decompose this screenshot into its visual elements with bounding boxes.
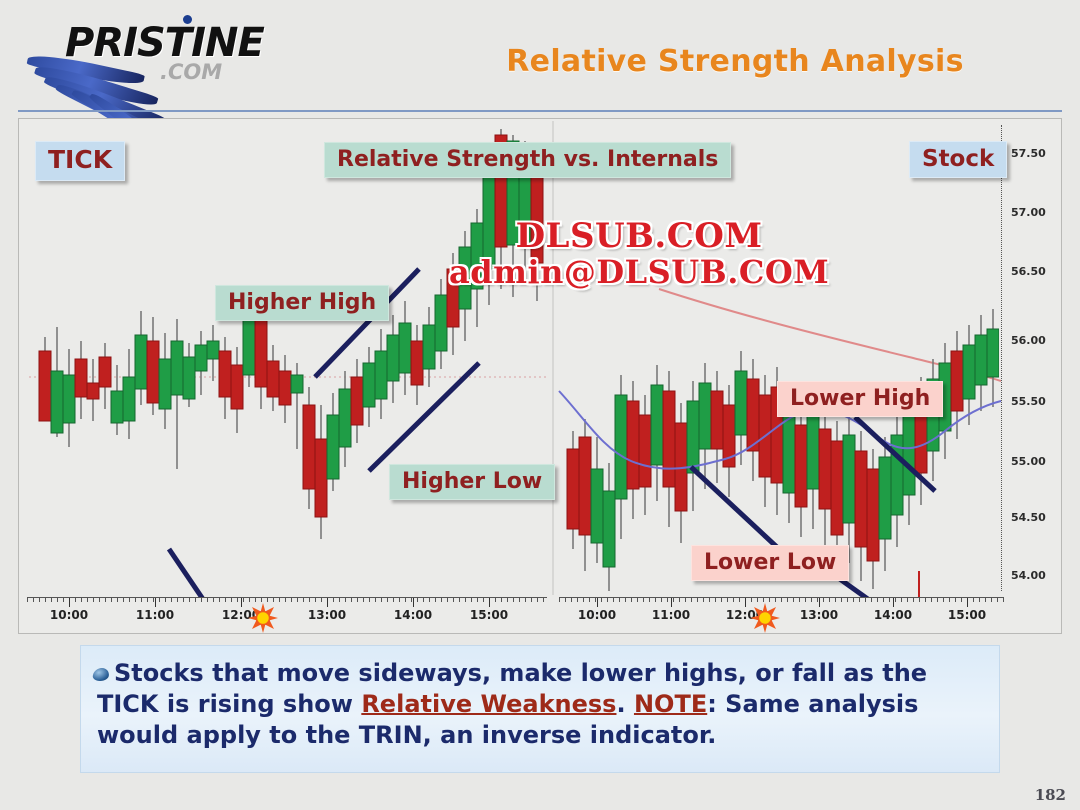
label-relative-strength: Relative Strength vs. Internals [324, 142, 731, 178]
time-ruler-right [559, 597, 1004, 606]
ytick-5: 55.00 [1011, 455, 1046, 468]
ytick-2: 56.50 [1011, 265, 1046, 278]
caption-text: Stocks that move sideways, make lower hi… [97, 658, 981, 752]
xtick-right-4: 14:00 [874, 608, 912, 622]
xtick-left-0: 10:00 [50, 608, 88, 622]
slide-header: .COM PRISTINE Relative Strength Analysis [0, 0, 1080, 112]
xtick-right-1: 11:00 [652, 608, 690, 622]
time-axis-left: 10:00 11:00 12:00 13:00 14:00 15:00 [27, 597, 547, 631]
caption-emphasis-1: Relative Weakness [361, 690, 616, 718]
label-higher-low: Higher Low [389, 464, 555, 500]
xtick-left-3: 13:00 [308, 608, 346, 622]
xtick-left-4: 14:00 [394, 608, 432, 622]
sun-marker-icon [248, 603, 278, 638]
chart-panel: 57.50 57.00 56.50 56.00 55.50 55.00 54.5… [18, 118, 1062, 634]
xtick-right-0: 10:00 [578, 608, 616, 622]
ytick-7: 54.00 [1011, 569, 1046, 582]
logo-dot-icon [183, 15, 192, 24]
price-axis-line [1001, 125, 1002, 591]
caption-emphasis-2: NOTE [634, 690, 707, 718]
xtick-left-1: 11:00 [136, 608, 174, 622]
ytick-0: 57.50 [1011, 147, 1046, 160]
caption-box: Stocks that move sideways, make lower hi… [80, 645, 1000, 773]
caption-part-2: . [616, 690, 633, 718]
bullet-icon [92, 668, 110, 681]
time-ruler-left [27, 597, 547, 606]
sun-marker-icon-right [750, 603, 780, 638]
label-tick: TICK [35, 141, 125, 181]
xtick-right-3: 13:00 [800, 608, 838, 622]
xtick-right-5: 15:00 [948, 608, 986, 622]
label-higher-high: Higher High [215, 285, 389, 321]
trendline-down-left [169, 549, 257, 597]
chart-svg [19, 119, 1004, 597]
ytick-6: 54.50 [1011, 511, 1046, 524]
page-number: 182 [1035, 786, 1066, 804]
label-lower-high: Lower High [777, 381, 943, 417]
xtick-left-5: 15:00 [470, 608, 508, 622]
time-axis-right: 10:00 11:00 12:00 13:00 14:00 15:00 [559, 597, 1004, 631]
page-title: Relative Strength Analysis [0, 44, 1080, 79]
candlestick-plot-area [19, 119, 1004, 597]
label-lower-low: Lower Low [691, 545, 849, 581]
ytick-4: 55.50 [1011, 395, 1046, 408]
header-divider [18, 110, 1062, 112]
ytick-1: 57.00 [1011, 206, 1046, 219]
price-axis: 57.50 57.00 56.50 56.00 55.50 55.00 54.5… [1001, 119, 1061, 597]
ytick-3: 56.00 [1011, 334, 1046, 347]
label-stock: Stock [909, 141, 1007, 178]
